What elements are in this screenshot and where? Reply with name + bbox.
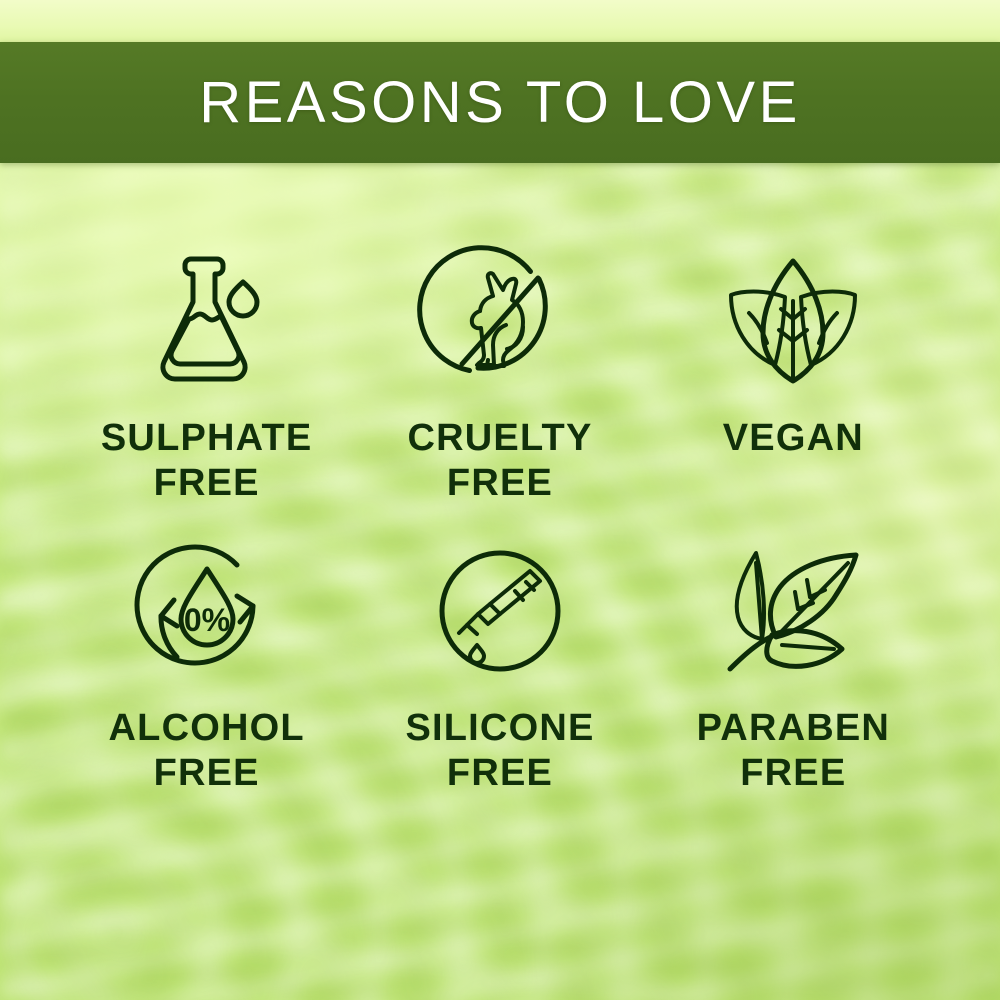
badge-label: PARABEN FREE <box>697 706 890 796</box>
reasons-to-love-poster: REASONS TO LOVE SULPHATE FREE <box>0 0 1000 1000</box>
leaf-sprig-icon <box>722 540 864 682</box>
badge-label: ALCOHOL FREE <box>109 706 305 796</box>
background-top-strip <box>0 0 1000 44</box>
zero-percent-water-drop-icon: 0% <box>141 540 273 682</box>
no-animal-testing-rabbit-icon <box>432 250 568 392</box>
badge-label: VEGAN <box>723 416 864 461</box>
flask-droplet-icon <box>143 250 271 392</box>
zero-percent-text: 0% <box>184 602 230 638</box>
badge-label: CRUELTY FREE <box>407 416 592 506</box>
badge-label: SULPHATE FREE <box>101 416 313 506</box>
badge-silicone-free: SILICONE FREE <box>353 540 646 830</box>
badge-vegan: VEGAN <box>647 250 940 540</box>
page-title: REASONS TO LOVE <box>199 74 801 132</box>
badge-sulphate-free: SULPHATE FREE <box>60 250 353 540</box>
header-banner: REASONS TO LOVE <box>0 42 1000 163</box>
badge-cruelty-free: CRUELTY FREE <box>353 250 646 540</box>
badge-label: SILICONE FREE <box>405 706 594 796</box>
badge-alcohol-free: 0% ALCOHOL FREE <box>60 540 353 830</box>
badge-paraben-free: PARABEN FREE <box>647 540 940 830</box>
dropper-pipette-icon <box>434 540 566 682</box>
badge-grid: SULPHATE FREE CRUELTY FREE <box>0 250 1000 830</box>
three-leaves-icon <box>723 250 863 392</box>
